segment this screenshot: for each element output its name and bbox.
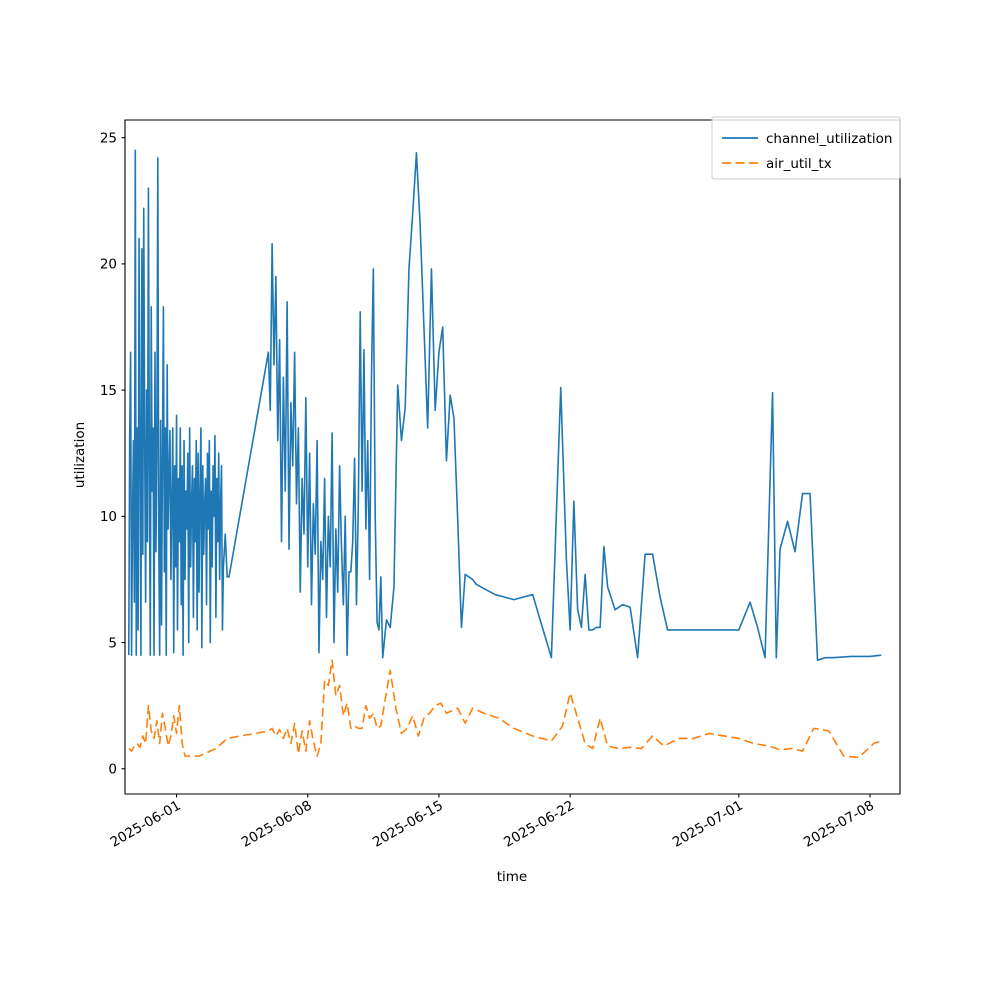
chart-legend[interactable]: channel_utilizationair_util_tx: [712, 117, 900, 179]
matplotlib-figure: 0510152025 2025-06-012025-06-082025-06-1…: [0, 0, 1000, 1000]
line-chart: 0510152025 2025-06-012025-06-082025-06-1…: [0, 0, 1000, 1000]
y-tick-label: 20: [100, 257, 117, 273]
y-axis-label: utilization: [72, 422, 88, 488]
y-tick-label: 10: [100, 509, 117, 525]
y-tick-label: 5: [108, 635, 117, 651]
y-tick-label: 15: [100, 383, 117, 399]
y-tick-label: 0: [108, 762, 117, 778]
x-axis-label: time: [497, 869, 528, 885]
legend-label-channel_utilization[interactable]: channel_utilization: [766, 131, 893, 147]
legend-label-air_util_tx[interactable]: air_util_tx: [766, 156, 832, 172]
y-tick-label: 25: [100, 130, 117, 146]
